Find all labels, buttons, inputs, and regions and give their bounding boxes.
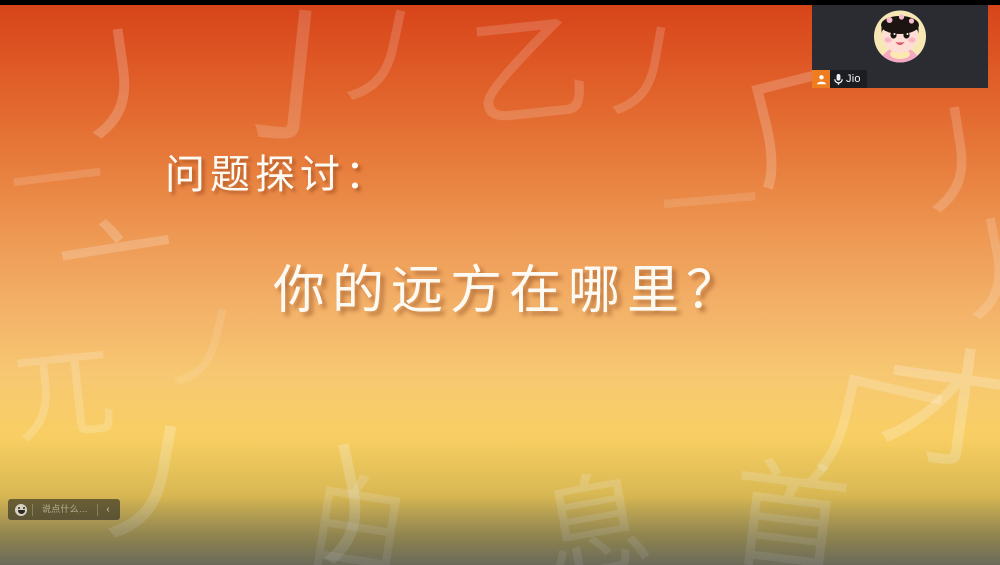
- decorative-stroke: 丿: [892, 97, 1000, 229]
- decorative-stroke: 亅: [215, 5, 380, 162]
- decorative-stroke: 息: [531, 464, 658, 565]
- cartoon-girl-avatar-icon: [873, 9, 928, 64]
- avatar: [873, 9, 928, 64]
- slide-text-block: 问题探讨： 你的远方在哪里？: [0, 5, 1000, 565]
- decorative-stroke: 乙: [464, 7, 596, 139]
- participant-name-label: Jio: [846, 70, 861, 88]
- decorative-stroke: 丿: [273, 428, 427, 565]
- decorative-stroke: 亠: [51, 208, 188, 345]
- slide-bottom-dim-overlay: [0, 435, 1000, 565]
- slide-heading-question: 你的远方在哪里？: [273, 248, 745, 323]
- decorative-stroke: 厂: [808, 363, 952, 507]
- chevron-left-icon[interactable]: ‹: [98, 499, 118, 520]
- top-letterbox-bar: [0, 0, 1000, 5]
- slide-background-decoration: 丿亅亠一兀丿丿白息首丿乙厂丿丿才丿厂一丿: [0, 5, 1000, 565]
- participant-video-tile[interactable]: Jio: [812, 5, 988, 88]
- decorative-stroke: 丿: [52, 19, 188, 155]
- participant-name-bar: Jio: [812, 70, 867, 88]
- decorative-stroke: 丿: [931, 206, 1000, 335]
- decorative-stroke: 一: [5, 130, 111, 236]
- host-badge-icon: [812, 70, 830, 88]
- decorative-stroke: 一: [656, 151, 764, 259]
- decorative-stroke: 丿: [75, 409, 231, 565]
- decorative-stroke: 才: [872, 337, 1000, 484]
- screen-share-viewport: 丿亅亠一兀丿丿白息首丿乙厂丿丿才丿厂一丿 问题探讨： 你的远方在哪里？ 说点什么…: [0, 0, 1000, 565]
- decorative-stroke: 兀: [9, 340, 119, 450]
- shared-slide: 丿亅亠一兀丿丿白息首丿乙厂丿丿才丿厂一丿 问题探讨： 你的远方在哪里？ 说点什么…: [0, 5, 1000, 565]
- decorative-stroke: 白: [297, 467, 417, 565]
- emoji-picker-button[interactable]: [10, 499, 32, 520]
- decorative-stroke: 首: [723, 453, 855, 565]
- smiley-face-icon: [15, 504, 27, 516]
- slide-heading-primary: 问题探讨：: [165, 142, 390, 200]
- microphone-icon: [833, 73, 844, 86]
- decorative-stroke: 丿: [587, 15, 709, 137]
- chat-input-bar[interactable]: 说点什么… ‹: [8, 499, 120, 520]
- decorative-stroke: 丿: [150, 295, 265, 410]
- person-icon: [816, 74, 827, 85]
- chat-message-input[interactable]: 说点什么…: [33, 499, 97, 520]
- decorative-stroke: 丿: [320, 5, 450, 125]
